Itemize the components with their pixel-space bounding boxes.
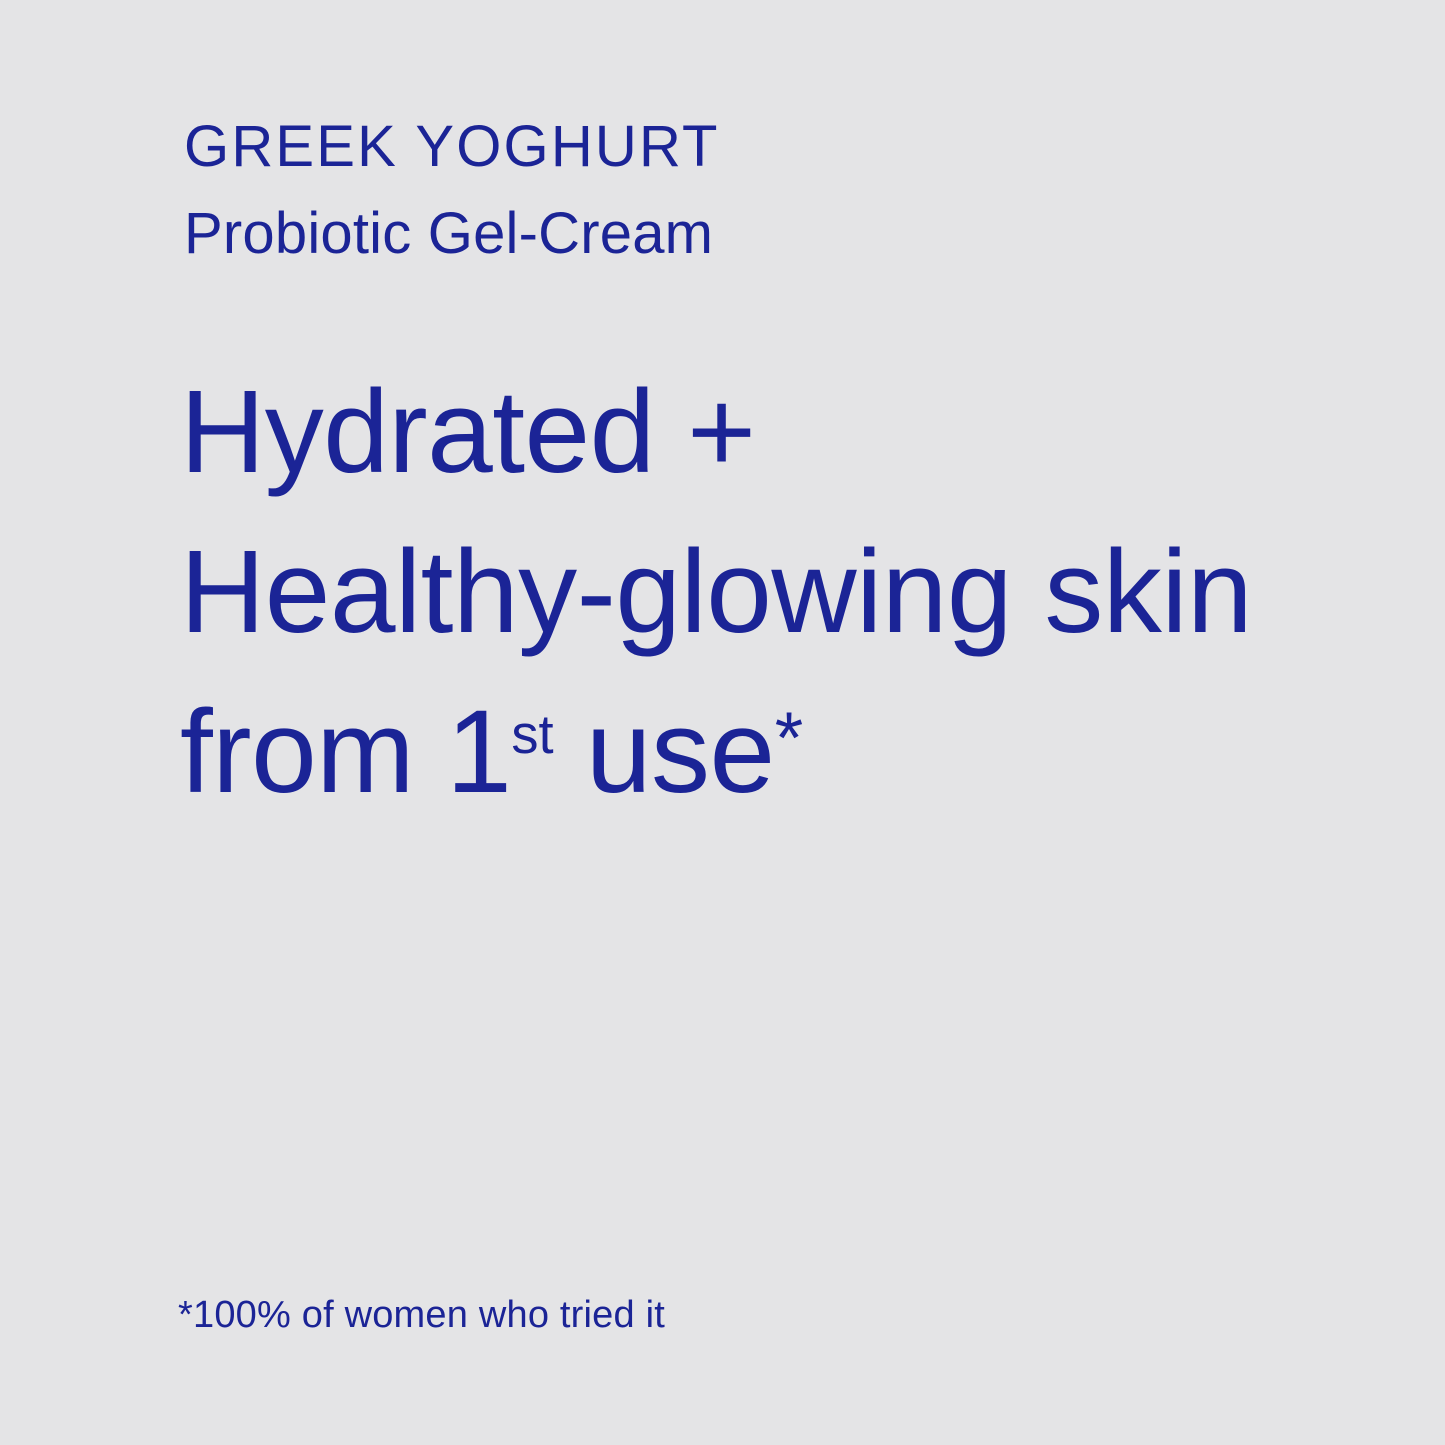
- product-claim-card: GREEK YOGHURT Probiotic Gel-Cream Hydrat…: [0, 0, 1445, 1445]
- headline-line-3-prefix: from 1: [180, 686, 511, 818]
- ordinal-superscript: st: [511, 704, 553, 765]
- product-descriptor: Probiotic Gel-Cream: [184, 190, 720, 277]
- product-name-block: GREEK YOGHURT Probiotic Gel-Cream: [184, 103, 720, 277]
- headline-line-3: from 1st use*: [180, 672, 1252, 854]
- headline-line-2: Healthy-glowing skin: [180, 512, 1252, 672]
- brand-name: GREEK YOGHURT: [184, 103, 720, 190]
- headline-line-3-middle: use: [554, 686, 775, 818]
- footnote-marker-asterisk: *: [775, 697, 803, 779]
- footnote-text: *100% of women who tried it: [178, 1292, 665, 1338]
- headline-block: Hydrated + Healthy-glowing skin from 1st…: [180, 352, 1252, 854]
- headline-line-1: Hydrated +: [180, 352, 1252, 512]
